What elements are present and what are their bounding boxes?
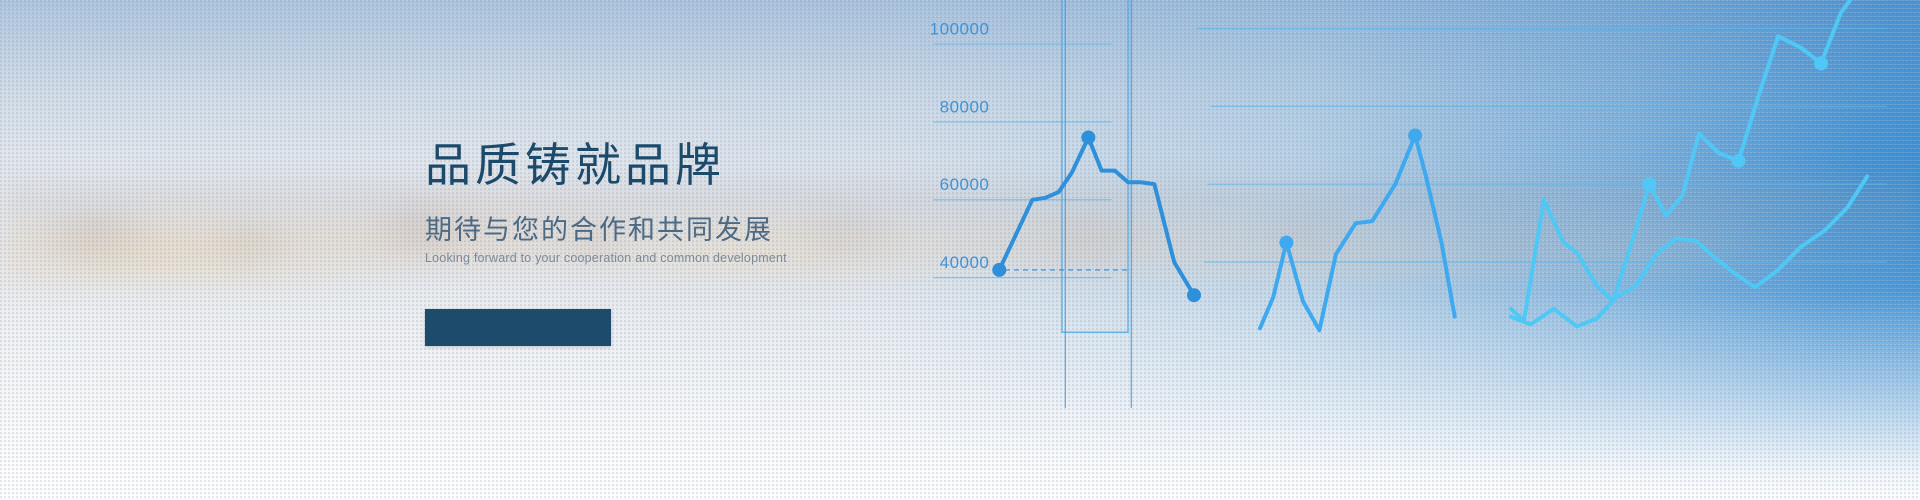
chart-annotations: [996, 0, 1131, 408]
chart-y-axis-labels: 400006000080000100000: [930, 19, 989, 272]
y-axis-tick-label: 40000: [940, 253, 990, 272]
promo-banner: 品质铸就品牌 期待与您的合作和共同发展 Looking forward to y…: [0, 0, 1920, 500]
chart-series: [992, 0, 1871, 330]
line-chart: 400006000080000100000: [930, 0, 1920, 500]
y-axis-tick-label: 80000: [940, 97, 990, 116]
y-axis-tick-label: 60000: [940, 175, 990, 194]
y-axis-tick-label: 100000: [930, 19, 989, 38]
chart-svg: 400006000080000100000: [930, 0, 1920, 500]
chart-gridlines: [933, 28, 1887, 277]
cta-button[interactable]: [425, 309, 611, 346]
copy-block: 品质铸就品牌 期待与您的合作和共同发展 Looking forward to y…: [425, 140, 905, 266]
subheadline-english: Looking forward to your cooperation and …: [425, 250, 905, 266]
subheadline-chinese: 期待与您的合作和共同发展: [425, 214, 905, 246]
headline: 品质铸就品牌: [425, 140, 905, 192]
